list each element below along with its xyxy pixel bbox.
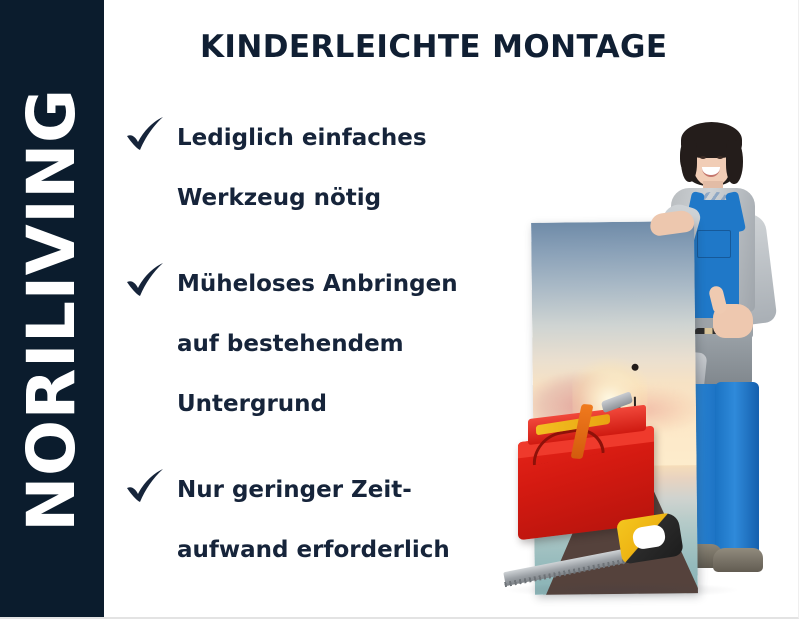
list-item-line: Untergrund [177, 374, 515, 434]
list-item-text: Müheloses Anbringen auf bestehendem Unte… [177, 254, 515, 434]
hand-saw [503, 504, 689, 588]
promo-poster: NORILIVING KINDERLEICHTE MONTAGE Ledigli… [0, 0, 799, 619]
checkmark-icon [125, 262, 167, 298]
list-item: Lediglich einfaches Werkzeug nötig [125, 108, 515, 228]
brand-name: NORILIVING [19, 88, 85, 531]
checkmark-icon [125, 116, 167, 152]
hair-side-left [681, 140, 697, 182]
brand-sidebar-inner: NORILIVING [19, 88, 85, 531]
list-item-line: Nur geringer Zeit- [177, 460, 515, 520]
shoe-right [713, 548, 763, 572]
list-item-line: Werkzeug nötig [177, 168, 515, 228]
list-item-text: Lediglich einfaches Werkzeug nötig [177, 108, 515, 228]
page-title: KINDERLEICHTE MONTAGE [200, 29, 667, 65]
eye-left [700, 156, 706, 159]
feature-list: Lediglich einfaches Werkzeug nötig Mühel… [125, 108, 515, 580]
hair-side-right [726, 140, 743, 184]
list-item-line: auf bestehendem [177, 314, 515, 374]
brand-sidebar-edge [104, 0, 107, 619]
list-item: Müheloses Anbringen auf bestehendem Unte… [125, 254, 515, 434]
bib-pocket [697, 230, 731, 258]
eye-right [717, 156, 723, 159]
list-item-text: Nur geringer Zeit- aufwand erforderlich [177, 460, 515, 580]
product-photo [495, 96, 799, 606]
list-item-line: aufwand erforderlich [177, 520, 515, 580]
checkmark-icon [125, 468, 167, 504]
list-item-line: Müheloses Anbringen [177, 254, 515, 314]
brand-sidebar: NORILIVING [0, 0, 104, 619]
list-item-line: Lediglich einfaches [177, 108, 515, 168]
list-item: Nur geringer Zeit- aufwand erforderlich [125, 460, 515, 580]
trouser-leg-right [715, 382, 759, 554]
